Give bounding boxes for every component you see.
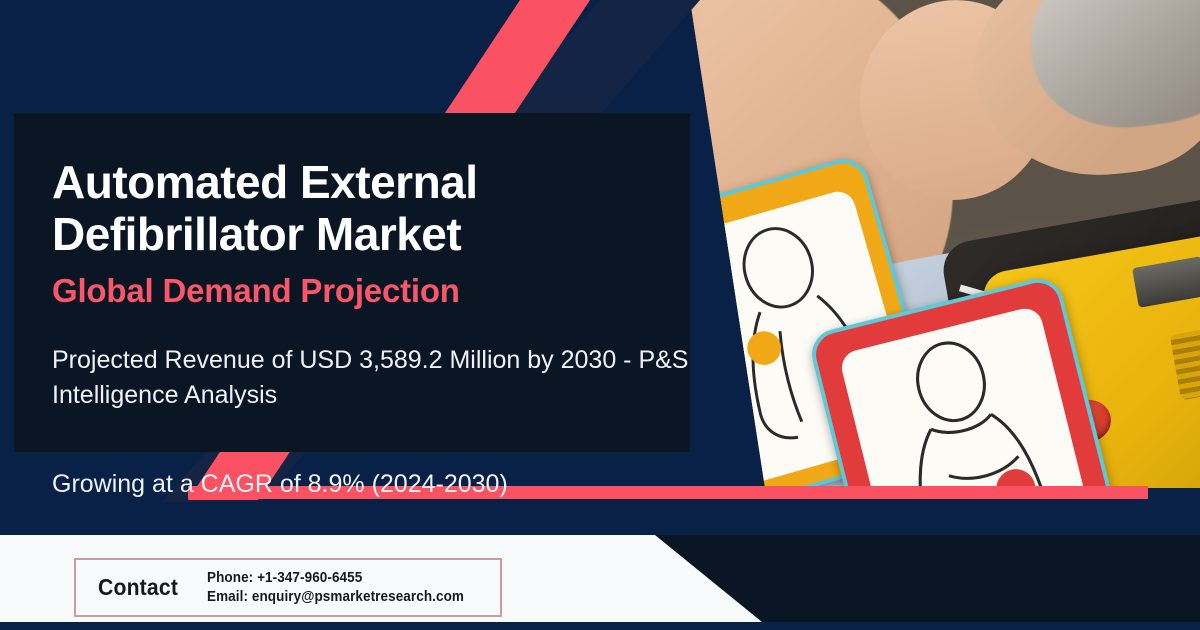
headline-line-2: Defibrillator Market: [52, 208, 652, 260]
subheadline: Global Demand Projection: [52, 272, 672, 310]
contact-box[interactable]: Contact Phone: +1-347-960-6455 Email: en…: [74, 558, 502, 617]
footer-bottom-strip: [0, 622, 1200, 630]
cagr-statement: Growing at a CAGR of 8.9% (2024-2030): [52, 470, 672, 499]
detail-line-1: Projected Revenue of USD 3,589.2 Million…: [52, 346, 554, 374]
marketing-banner: Automated External Defibrillator Market …: [0, 0, 1200, 630]
projection-detail: Projected Revenue of USD 3,589.2 Million…: [52, 343, 702, 412]
contact-email[interactable]: Email: enquiry@psmarketresearch.com: [207, 588, 464, 607]
page-title: Automated External Defibrillator Market: [52, 156, 652, 261]
contact-label: Contact: [98, 574, 178, 601]
contact-phone[interactable]: Phone: +1-347-960-6455: [207, 569, 464, 588]
headline-line-1: Automated External: [52, 156, 478, 208]
contact-details: Phone: +1-347-960-6455 Email: enquiry@ps…: [207, 569, 483, 606]
